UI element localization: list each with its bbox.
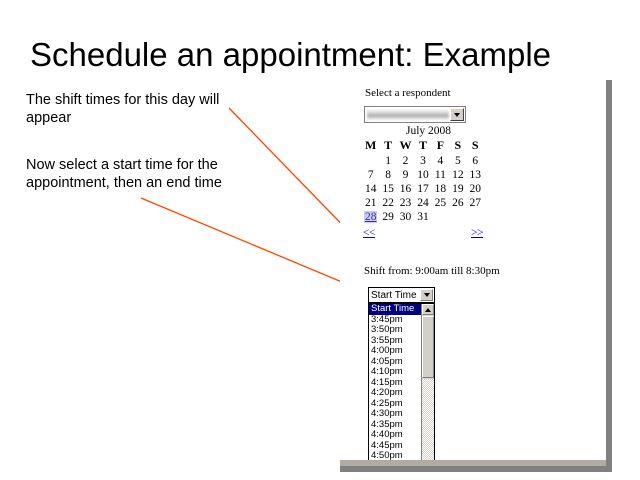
calendar-day[interactable]: 12 [449, 168, 466, 182]
start-time-dropdown-list[interactable]: Start Time 3:45pm 3:50pm 3:55pm 4:00pm 4… [368, 303, 435, 466]
calendar-day[interactable]: 7 [362, 168, 379, 182]
calendar-day[interactable]: 8 [379, 168, 396, 182]
calendar-day[interactable]: 16 [397, 182, 414, 196]
calendar-day-selected[interactable]: 28 [362, 210, 379, 224]
scrollbar-thumb[interactable] [422, 316, 434, 378]
calendar-day[interactable]: 11 [432, 168, 449, 182]
calendar-day[interactable]: 29 [379, 210, 396, 224]
calendar-day[interactable] [467, 210, 484, 224]
calendar-week-row: 21 22 23 24 25 26 27 [362, 196, 484, 210]
calendar-prev-link[interactable]: << [363, 227, 375, 239]
chevron-down-icon[interactable] [420, 289, 433, 301]
calendar-day[interactable]: 17 [414, 182, 431, 196]
calendar-day[interactable]: 31 [414, 210, 431, 224]
calendar-day[interactable]: 15 [379, 182, 396, 196]
calendar-day[interactable] [432, 210, 449, 224]
annotation-shift-times: The shift times for this day will appear [26, 91, 241, 127]
arrow-to-start-time-combo [141, 198, 361, 290]
respondent-label: Select a respondent [365, 87, 451, 99]
calendar-day[interactable]: 30 [397, 210, 414, 224]
calendar-day[interactable]: 24 [414, 196, 431, 210]
calendar-weekday: T [414, 138, 431, 154]
calendar-widget[interactable]: July 2008 M T W T F S S [362, 125, 487, 243]
calendar-day[interactable]: 10 [414, 168, 431, 182]
dropdown-scrollbar[interactable] [421, 304, 434, 465]
calendar-next-link[interactable]: >> [471, 227, 483, 239]
annotation-select-start-time: Now select a start time for the appointm… [26, 156, 246, 192]
calendar-day[interactable]: 27 [467, 196, 484, 210]
shift-hours-text: Shift from: 9:00am till 8:30pm [364, 265, 500, 277]
list-item[interactable]: 4:30pm [369, 409, 421, 420]
calendar-weekday: S [467, 138, 484, 154]
calendar-day[interactable]: 13 [467, 168, 484, 182]
calendar-weekday: T [379, 138, 396, 154]
respondent-select[interactable] [364, 106, 466, 123]
calendar-weekday-row: M T W T F S S [362, 138, 484, 154]
scrollbar-track[interactable] [422, 379, 434, 465]
start-time-combo-value: Start Time [369, 290, 420, 301]
calendar-day[interactable]: 25 [432, 196, 449, 210]
arrow-to-calendar-nav [229, 108, 358, 241]
calendar-day[interactable]: 26 [449, 196, 466, 210]
calendar-day[interactable]: 20 [467, 182, 484, 196]
calendar-day[interactable]: 2 [397, 154, 414, 168]
start-time-combo[interactable]: Start Time [368, 287, 435, 303]
calendar-day[interactable]: 5 [449, 154, 466, 168]
calendar-week-row: 7 8 9 10 11 12 13 [362, 168, 484, 182]
respondent-selected-value [367, 110, 449, 120]
list-item[interactable]: 4:40pm [369, 430, 421, 441]
calendar-week-row: 1 2 3 4 5 6 [362, 154, 484, 168]
calendar-day[interactable]: 4 [432, 154, 449, 168]
page-title: Schedule an appointment: Example [30, 36, 620, 74]
list-item[interactable]: 3:50pm [369, 325, 421, 336]
list-item[interactable]: 4:10pm [369, 367, 421, 378]
calendar-day[interactable]: 18 [432, 182, 449, 196]
calendar-week-row: 14 15 16 17 18 19 20 [362, 182, 484, 196]
calendar-day[interactable]: 22 [379, 196, 396, 210]
calendar-day[interactable]: 3 [414, 154, 431, 168]
calendar-day[interactable]: 23 [397, 196, 414, 210]
calendar-weekday: W [397, 138, 414, 154]
list-item[interactable]: Start Time [369, 304, 421, 315]
list-item[interactable]: 4:00pm [369, 346, 421, 357]
embedded-screenshot-panel: Select a respondent July 2008 M T W T [340, 80, 612, 472]
calendar-weekday: S [449, 138, 466, 154]
window-bottom-edge [340, 460, 606, 466]
calendar-week-row: 28 29 30 31 [362, 210, 484, 224]
calendar-day[interactable]: 19 [449, 182, 466, 196]
start-time-options[interactable]: Start Time 3:45pm 3:50pm 3:55pm 4:00pm 4… [369, 304, 421, 465]
calendar-weekday: M [362, 138, 379, 154]
chevron-up-icon[interactable] [422, 304, 434, 315]
calendar-month-label: July 2008 [362, 125, 487, 138]
screenshot-content: Select a respondent July 2008 M T W T [340, 80, 606, 466]
calendar-day[interactable]: 21 [362, 196, 379, 210]
calendar-weekday: F [432, 138, 449, 154]
calendar-day[interactable]: 14 [362, 182, 379, 196]
calendar-day[interactable] [449, 210, 466, 224]
calendar-day[interactable]: 6 [467, 154, 484, 168]
slide-canvas: Schedule an appointment: Example The shi… [0, 0, 640, 480]
list-item[interactable]: 4:20pm [369, 388, 421, 399]
calendar-navigation: << >> [362, 227, 484, 243]
calendar-day[interactable] [362, 154, 379, 168]
calendar-day[interactable]: 9 [397, 168, 414, 182]
calendar-grid[interactable]: M T W T F S S 1 2 [362, 138, 484, 224]
chevron-down-icon[interactable] [450, 108, 464, 121]
calendar-day[interactable]: 1 [379, 154, 396, 168]
